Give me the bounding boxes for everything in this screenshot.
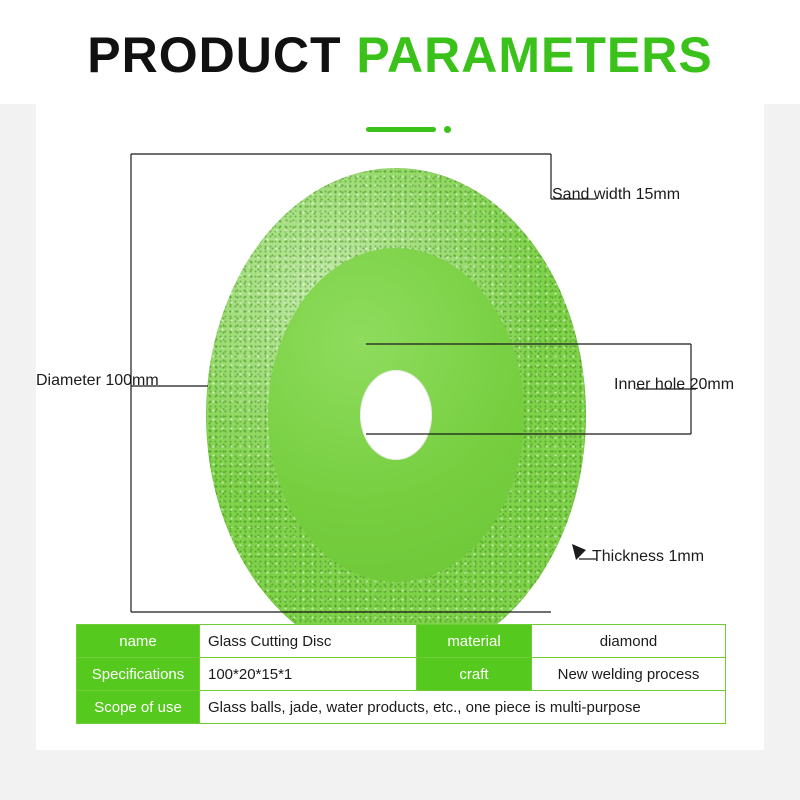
spec-key-scope-of-use: Scope of use: [77, 691, 200, 724]
spec-value-craft: New welding process: [532, 658, 726, 691]
decor-dot: [444, 126, 451, 133]
spec-value-specifications: 100*20*15*1: [200, 658, 417, 691]
product-parameters-page: PRODUCT PARAMETERS: [0, 0, 800, 800]
specification-table: name Glass Cutting Disc material diamond…: [76, 624, 726, 724]
label-sand-width: Sand width 15mm: [552, 186, 680, 204]
label-diameter: Diameter 100mm: [36, 372, 159, 390]
decor-dash-dot: [366, 124, 486, 136]
cutting-disc-illustration: [206, 168, 586, 662]
page-title: PRODUCT PARAMETERS: [0, 30, 800, 80]
spec-key-name: name: [77, 625, 200, 658]
table-row: name Glass Cutting Disc material diamond: [77, 625, 726, 658]
spec-value-name: Glass Cutting Disc: [200, 625, 417, 658]
table-row: Specifications 100*20*15*1 craft New wel…: [77, 658, 726, 691]
label-thickness: Thickness 1mm: [592, 548, 704, 566]
spec-value-material: diamond: [532, 625, 726, 658]
spec-value-scope-of-use: Glass balls, jade, water products, etc.,…: [200, 691, 726, 724]
spec-key-material: material: [417, 625, 532, 658]
title-word-parameters: PARAMETERS: [356, 27, 712, 83]
content-card: Sand width 15mm Diameter 100mm Inner hol…: [36, 104, 764, 750]
title-word-product: PRODUCT: [87, 27, 341, 83]
spec-key-specifications: Specifications: [77, 658, 200, 691]
disc-center-hole: [360, 370, 432, 460]
label-inner-hole: Inner hole 20mm: [614, 376, 734, 394]
table-row: Scope of use Glass balls, jade, water pr…: [77, 691, 726, 724]
decor-dash: [366, 127, 436, 132]
spec-key-craft: craft: [417, 658, 532, 691]
